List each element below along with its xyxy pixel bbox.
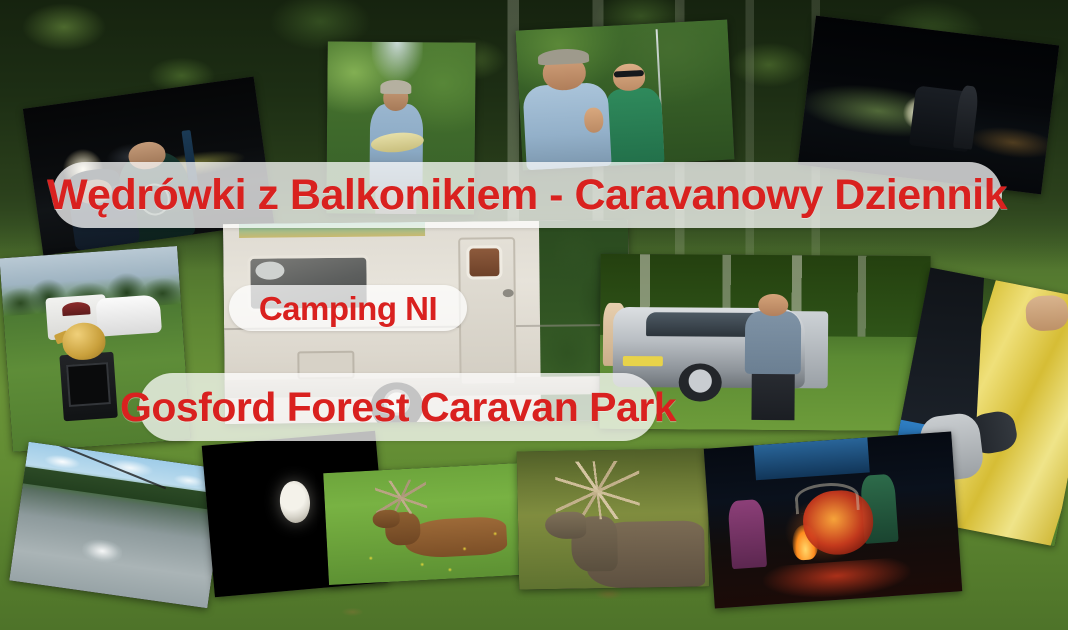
photo-deer-resting-image (323, 463, 525, 585)
photo-deer-resting (323, 463, 525, 585)
subject-label-text: Camping NI (259, 292, 437, 325)
photo-stag-portrait (517, 448, 709, 589)
photo-lake-splash-image (9, 442, 227, 608)
location-label-text: Gosford Forest Caravan Park (120, 387, 676, 428)
photo-stag-portrait-image (517, 448, 709, 589)
photo-campfire-image (704, 432, 963, 609)
channel-title-banner: Wędrówki z Balkonikiem - Caravanowy Dzie… (52, 162, 1002, 228)
photo-couple-thumbs-image (515, 20, 734, 171)
subject-label-banner: Camping NI (229, 285, 467, 331)
thumbnail-canvas: Wędrówki z Balkonikiem - Caravanowy Dzie… (0, 0, 1068, 630)
channel-title-text: Wędrówki z Balkonikiem - Caravanowy Dzie… (47, 174, 1007, 217)
photo-lake-splash (9, 442, 227, 608)
photo-couple-thumbs (515, 20, 734, 171)
photo-campfire (704, 432, 963, 609)
location-label-banner: Gosford Forest Caravan Park (139, 373, 657, 441)
